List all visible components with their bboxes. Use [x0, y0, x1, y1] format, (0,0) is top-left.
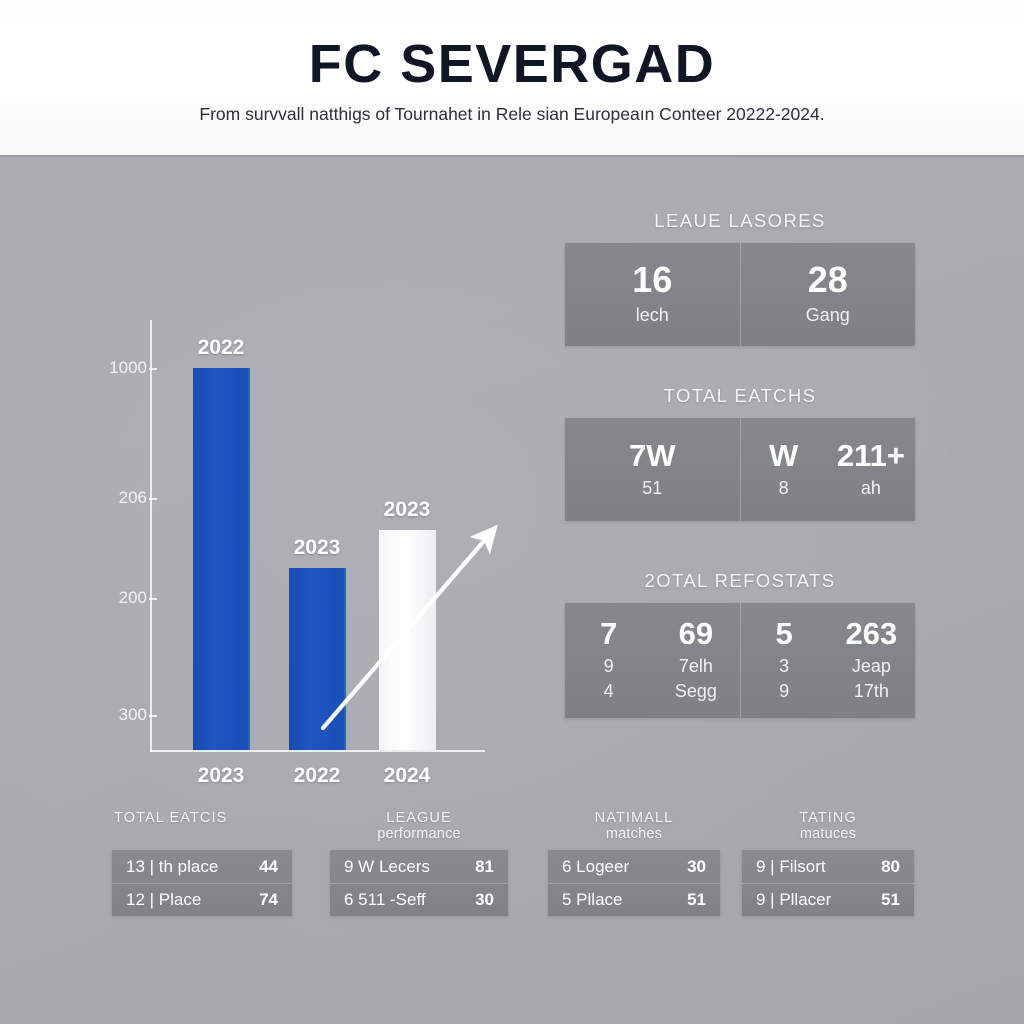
content-canvas: 1000206200300 202220232023 202320222024 …: [0, 155, 1024, 1024]
card-title: NATIMALLmatches: [548, 810, 720, 842]
card-row-label: 9 | Pllacer: [756, 890, 831, 910]
stat-column: 539: [741, 617, 828, 703]
card-tating-matuces: TATINGmatuces9 | Filsort809 | Pllacer51: [742, 810, 914, 916]
card-row-value: 51: [687, 890, 706, 910]
card-title-primary: TATING: [742, 810, 914, 826]
panel-half: 16lech: [565, 243, 740, 346]
y-axis-tick-label: 1000: [95, 358, 147, 378]
card-title: TOTAL EATCIS: [112, 810, 292, 842]
panel-title: TOTAL EATCHS: [565, 385, 915, 407]
stat-column: 7W51: [565, 439, 740, 500]
card-row-label: 5 Pllace: [562, 890, 622, 910]
card-row-value: 30: [475, 890, 494, 910]
x-axis-tick-label: 2022: [294, 764, 341, 788]
page-title: FC SEVERGAD: [0, 33, 1024, 95]
panel-title: LEAUE LASORES: [565, 210, 915, 232]
panel-half: 28Gang: [740, 243, 916, 346]
stat-sublabel: lech: [636, 304, 669, 327]
panel-total-refostats: 2OTAL REFOSTATS794697elhSegg539263Jeap17…: [565, 570, 915, 718]
card-row-group: 13 | th place4412 | Place74: [112, 850, 292, 916]
card-row-value: 51: [881, 890, 900, 910]
bar-value-label: 2023: [384, 498, 431, 522]
card-row: 5 Pllace51: [548, 883, 720, 916]
card-natimall-matches: NATIMALLmatches6 Logeer305 Pllace51: [548, 810, 720, 916]
stat-column: 16lech: [565, 261, 740, 327]
bar-chart: 1000206200300 202220232023 202320222024: [95, 320, 515, 790]
stat-column: 794: [565, 617, 652, 703]
stat-value: 16: [632, 261, 672, 300]
stat-column: 263Jeap17th: [828, 617, 915, 703]
stat-value: 263: [846, 617, 898, 650]
page-subtitle: From survvall natthigs of Tournahet in R…: [0, 104, 1024, 125]
y-axis-tick-label: 300: [95, 705, 147, 725]
card-title-primary: NATIMALL: [548, 810, 720, 826]
card-title-primary: TOTAL EATCIS: [114, 810, 292, 826]
stat-column: W8: [741, 439, 827, 500]
card-row-label: 9 W Lecers: [344, 857, 430, 877]
panel-leaue-lasores: LEAUE LASORES16lech28Gang: [565, 210, 915, 346]
panel-title: 2OTAL REFOSTATS: [565, 570, 915, 592]
card-title: TATINGmatuces: [742, 810, 914, 842]
stat-sublabel: 9: [779, 680, 789, 703]
card-row-label: 9 | Filsort: [756, 857, 826, 877]
stat-column: 211+ah: [827, 439, 915, 500]
stat-sublabel: 4: [604, 680, 614, 703]
bar-value-label: 2023: [294, 536, 341, 560]
card-row-value: 81: [475, 857, 494, 877]
card-total-eatcis: TOTAL EATCIS 13 | th place4412 | Place74: [112, 810, 292, 916]
stat-sublabel: Jeap: [852, 655, 891, 678]
panel-total-eatchs: TOTAL EATCHS7W51W8211+ah: [565, 385, 915, 521]
stat-value: 69: [679, 617, 713, 650]
card-row-label: 12 | Place: [126, 890, 201, 910]
stat-sublabel: 51: [642, 477, 662, 500]
x-axis-line: [150, 750, 485, 752]
card-row: 13 | th place44: [112, 850, 292, 883]
card-row-label: 6 Logeer: [562, 857, 629, 877]
card-row: 9 | Pllacer51: [742, 883, 914, 916]
panel-half: W8211+ah: [740, 418, 916, 521]
bar: [289, 568, 346, 750]
stat-sublabel: Segg: [675, 680, 717, 703]
card-row-label: 6 511 -Seff: [344, 890, 426, 910]
card-title-secondary: matuces: [742, 826, 914, 842]
stat-sublabel: 7elh: [679, 655, 713, 678]
card-title-secondary: matches: [548, 826, 720, 842]
card-row: 6 Logeer30: [548, 850, 720, 883]
bar-value-label: 2022: [198, 336, 245, 360]
stat-value: 28: [808, 261, 848, 300]
card-row-label: 13 | th place: [126, 857, 218, 877]
panel-body: 7W51W8211+ah: [565, 418, 915, 521]
x-axis-tick-label: 2023: [198, 764, 245, 788]
panel-body: 16lech28Gang: [565, 243, 915, 346]
card-row: 6 511 -Seff30: [330, 883, 508, 916]
panel-half: 794697elhSegg: [565, 603, 740, 718]
card-row: 12 | Place74: [112, 883, 292, 916]
card-title-secondary: performance: [330, 826, 508, 842]
bar: [379, 530, 436, 750]
card-row-value: 44: [259, 857, 278, 877]
card-row-group: 6 Logeer305 Pllace51: [548, 850, 720, 916]
card-title-secondary: [114, 826, 292, 842]
card-title: LEAGUEperformance: [330, 810, 508, 842]
card-title-primary: LEAGUE: [330, 810, 508, 826]
card-league-performance: LEAGUEperformance9 W Lecers816 511 -Seff…: [330, 810, 508, 916]
panel-half: 539263Jeap17th: [740, 603, 916, 718]
panel-half: 7W51: [565, 418, 740, 521]
bar: [193, 368, 250, 750]
card-row-group: 9 | Filsort809 | Pllacer51: [742, 850, 914, 916]
y-axis-tick-label: 200: [95, 588, 147, 608]
card-row-value: 30: [687, 857, 706, 877]
stat-column: 697elhSegg: [652, 617, 739, 703]
panel-body: 794697elhSegg539263Jeap17th: [565, 603, 915, 718]
card-row-group: 9 W Lecers816 511 -Seff30: [330, 850, 508, 916]
stat-sublabel: Gang: [806, 304, 850, 327]
stat-sublabel: 9: [604, 655, 614, 678]
y-axis-tick-label: 206: [95, 488, 147, 508]
stat-sublabel: 3: [779, 655, 789, 678]
stat-value: 7: [600, 617, 617, 650]
stat-value: 7W: [629, 439, 676, 472]
card-row: 9 | Filsort80: [742, 850, 914, 883]
stat-value: W: [769, 439, 798, 472]
stat-value: 211+: [837, 439, 905, 472]
infographic-page: FC SEVERGAD From survvall natthigs of To…: [0, 0, 1024, 1024]
stat-sublabel: ah: [861, 477, 881, 500]
stat-value: 5: [776, 617, 793, 650]
stat-sublabel: 8: [779, 477, 789, 500]
header-banner: FC SEVERGAD From survvall natthigs of To…: [0, 0, 1024, 155]
y-axis-line: [150, 320, 152, 752]
x-axis-tick-label: 2024: [384, 764, 431, 788]
stat-sublabel: 17th: [854, 680, 889, 703]
card-row-value: 74: [259, 890, 278, 910]
card-row: 9 W Lecers81: [330, 850, 508, 883]
card-row-value: 80: [881, 857, 900, 877]
stat-column: 28Gang: [741, 261, 916, 327]
